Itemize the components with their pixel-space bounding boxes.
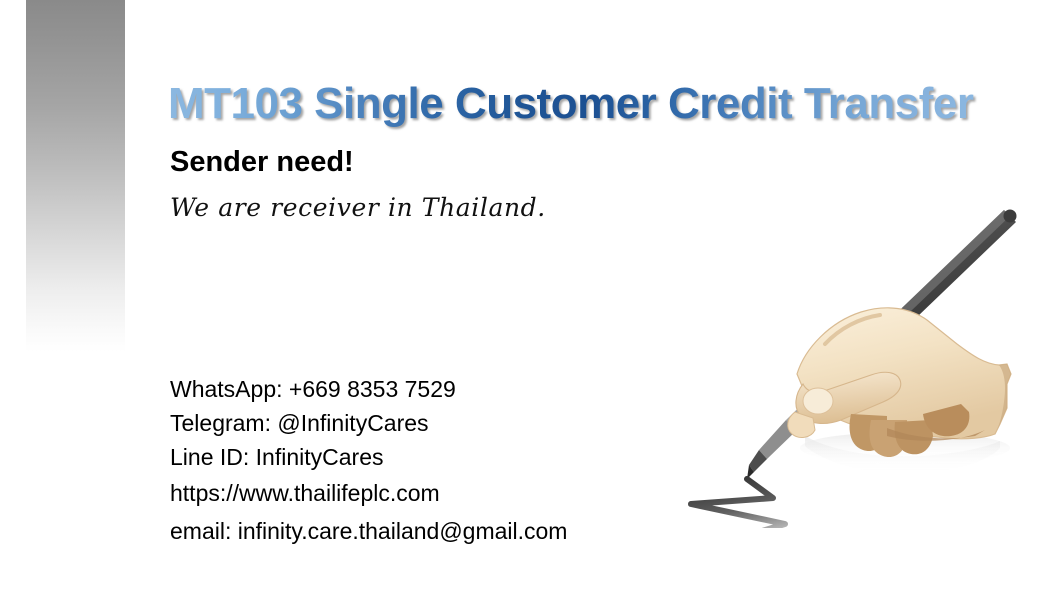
hand-writing-with-pen-icon	[655, 198, 1055, 528]
contact-line-website[interactable]: https://www.thailifeplc.com	[170, 474, 567, 512]
page-title: MT103 Single Customer Credit Transfer	[168, 78, 1008, 130]
sidebar-gradient-bar	[26, 0, 125, 352]
contact-details-block: WhatsApp: +669 8353 7529 Telegram: @Infi…	[170, 372, 567, 550]
contact-line-lineid: Line ID: InfinityCares	[170, 440, 567, 474]
slide-canvas: MT103 Single Customer Credit Transfer Se…	[0, 0, 1063, 600]
subheadline-script-text: We are receiver in Thailand.	[170, 191, 546, 225]
contact-line-whatsapp: WhatsApp: +669 8353 7529	[170, 372, 567, 406]
headline-text: Sender need!	[170, 144, 354, 180]
contact-line-email[interactable]: email: infinity.care.thailand@gmail.com	[170, 512, 567, 550]
contact-line-telegram: Telegram: @InfinityCares	[170, 406, 567, 440]
ink-squiggle	[691, 479, 785, 528]
